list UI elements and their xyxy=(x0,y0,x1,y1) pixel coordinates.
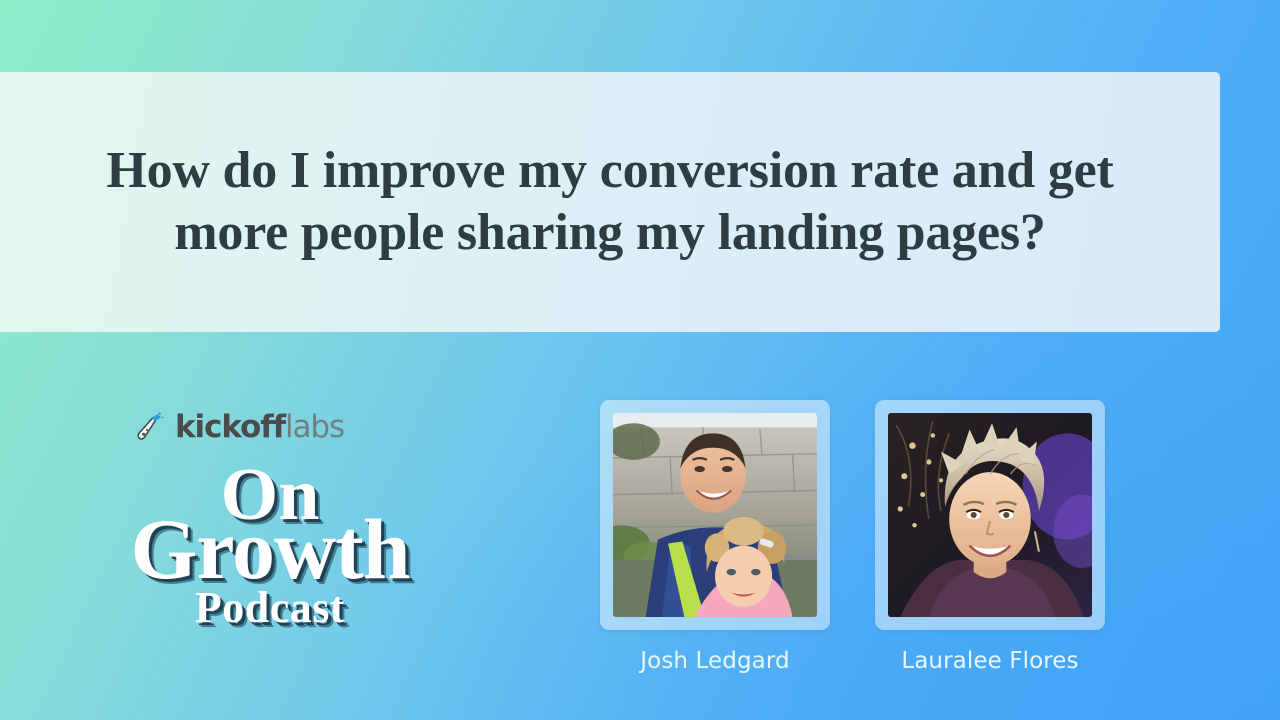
guest-card: Josh Ledgard xyxy=(600,400,830,674)
guest-card: Lauralee Flores xyxy=(875,400,1105,674)
flask-icon xyxy=(136,411,166,443)
show-title-line-2: Growth xyxy=(60,514,480,585)
guest-list: Josh Ledgard xyxy=(600,400,1105,674)
guest-name: Lauralee Flores xyxy=(901,648,1078,674)
kickofflabs-wordmark: kickofflabs xyxy=(175,412,344,443)
guest-photo-frame xyxy=(600,400,830,630)
guest-photo-josh-ledgard xyxy=(613,413,817,617)
guest-photo-frame xyxy=(875,400,1105,630)
show-title-line-3: Podcast xyxy=(60,590,480,626)
show-wordmark: On Growth Podcast xyxy=(60,465,480,626)
guest-name: Josh Ledgard xyxy=(640,648,789,674)
branding-block: kickofflabs On Growth Podcast xyxy=(60,405,480,626)
podcast-episode-slide: How do I improve my conversion rate and … xyxy=(0,0,1280,720)
guest-photo-lauralee-flores xyxy=(888,413,1092,617)
wordmark-labs: labs xyxy=(285,412,344,443)
headline-card: How do I improve my conversion rate and … xyxy=(0,72,1220,332)
wordmark-kickoff: kickoff xyxy=(175,412,285,443)
kickofflabs-logo[interactable]: kickofflabs xyxy=(60,405,480,449)
episode-question-headline: How do I improve my conversion rate and … xyxy=(35,140,1185,264)
